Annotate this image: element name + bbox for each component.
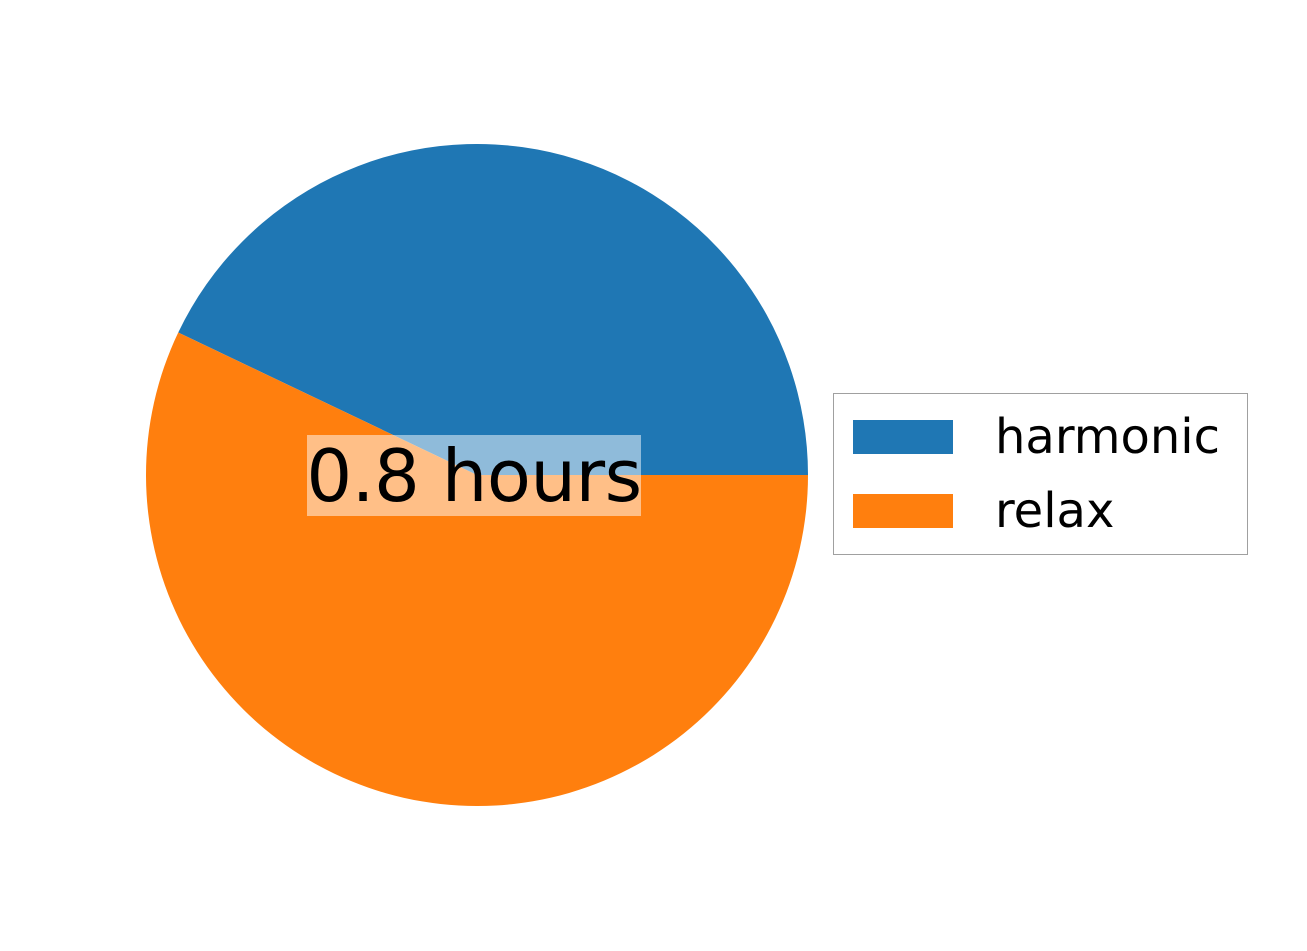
legend-item-relax[interactable]: relax xyxy=(853,481,1114,541)
legend-swatch-harmonic xyxy=(853,420,953,454)
legend-swatch-relax xyxy=(853,494,953,528)
legend-label-relax: relax xyxy=(995,487,1114,535)
figure-canvas: 0.8 hours harmonic relax xyxy=(0,0,1307,951)
center-annotation-box: 0.8 hours xyxy=(307,435,641,516)
legend-box: harmonic relax xyxy=(833,393,1248,555)
legend-item-harmonic[interactable]: harmonic xyxy=(853,407,1220,467)
center-annotation-text: 0.8 hours xyxy=(306,440,641,512)
legend-label-harmonic: harmonic xyxy=(995,413,1220,461)
